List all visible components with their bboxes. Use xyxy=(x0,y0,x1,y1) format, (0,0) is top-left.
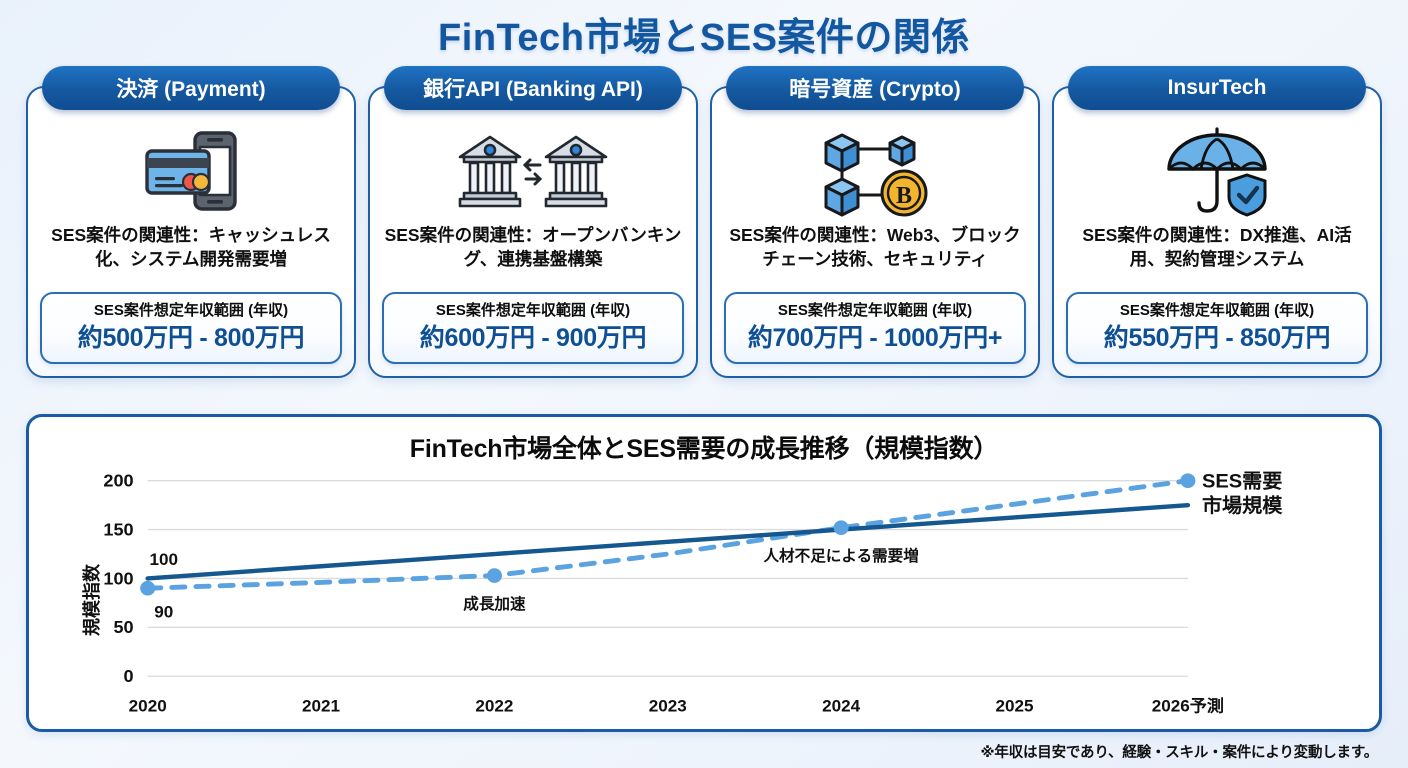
svg-text:B: B xyxy=(896,183,912,209)
svg-text:人材不足による需要増: 人材不足による需要増 xyxy=(763,546,918,565)
svg-text:2026予測: 2026予測 xyxy=(1152,696,1224,716)
svg-text:100: 100 xyxy=(103,569,133,589)
card-description-payment: SES案件の関連性：キャッシュレス化、システム開発需要増 xyxy=(40,218,342,292)
category-card-row: 決済 (Payment) SES案件の関連性：キャッシュレス化、システム開発需要… xyxy=(0,64,1408,378)
page-title: FinTech市場とSES案件の関係 xyxy=(0,0,1408,64)
salary-box-insurtech: SES案件想定年収範囲 (年収) 約550万円 - 850万円 xyxy=(1066,292,1368,364)
salary-box-banking-api: SES案件想定年収範囲 (年収) 約600万円 - 900万円 xyxy=(382,292,684,364)
salary-value: 約700万円 - 1000万円+ xyxy=(730,323,1020,354)
salary-value: 約550万円 - 850万円 xyxy=(1072,323,1362,354)
category-card-crypto[interactable]: 暗号資産 (Crypto) xyxy=(710,86,1040,378)
svg-text:市場規模: 市場規模 xyxy=(1202,494,1283,517)
salary-value: 約600万円 - 900万円 xyxy=(388,323,678,354)
footnote: ※年収は目安であり、経験・スキル・案件により変動します。 xyxy=(980,741,1378,762)
chart-plot-area: 規模指数 05010015020020202021202220232024202… xyxy=(29,469,1379,729)
card-description-insurtech: SES案件の関連性：DX推進、AI活用、契約管理システム xyxy=(1066,218,1368,292)
category-card-insurtech[interactable]: InsurTech SES案件の関連性：DX推進、AI活用、契約管理システム S… xyxy=(1052,86,1382,378)
svg-text:0: 0 xyxy=(124,666,134,686)
svg-text:2025: 2025 xyxy=(995,697,1033,716)
chart-title: FinTech市場全体とSES需要の成長推移（規模指数） xyxy=(29,417,1379,465)
svg-text:2021: 2021 xyxy=(302,697,340,716)
salary-box-payment: SES案件想定年収範囲 (年収) 約500万円 - 800万円 xyxy=(40,292,342,364)
growth-chart-panel: FinTech市場全体とSES需要の成長推移（規模指数） 規模指数 050100… xyxy=(26,414,1382,732)
svg-text:2020: 2020 xyxy=(129,697,167,716)
svg-text:SES需要: SES需要 xyxy=(1202,471,1283,493)
salary-label: SES案件想定年収範囲 (年収) xyxy=(46,300,336,323)
svg-text:100: 100 xyxy=(150,550,179,569)
svg-text:150: 150 xyxy=(103,520,133,540)
card-header-insurtech: InsurTech xyxy=(1068,66,1366,110)
salary-label: SES案件想定年収範囲 (年収) xyxy=(388,300,678,323)
svg-text:50: 50 xyxy=(113,617,133,637)
bank-exchange-icon xyxy=(458,124,608,218)
svg-text:2024: 2024 xyxy=(822,697,861,716)
card-header-payment: 決済 (Payment) xyxy=(42,66,340,110)
line-chart-svg: 0501001502002020202120222023202420252026… xyxy=(29,469,1379,729)
umbrella-shield-icon xyxy=(1161,124,1273,218)
card-header-banking-api: 銀行API (Banking API) xyxy=(384,66,682,110)
svg-text:成長加速: 成長加速 xyxy=(463,594,526,613)
svg-text:2023: 2023 xyxy=(649,697,687,716)
svg-text:90: 90 xyxy=(154,603,173,622)
svg-text:200: 200 xyxy=(103,471,133,491)
category-card-banking-api[interactable]: 銀行API (Banking API) xyxy=(368,86,698,378)
salary-box-crypto: SES案件想定年収範囲 (年収) 約700万円 - 1000万円+ xyxy=(724,292,1026,364)
card-header-crypto: 暗号資産 (Crypto) xyxy=(726,66,1024,110)
category-card-payment[interactable]: 決済 (Payment) SES案件の関連性：キャッシュレス化、システム開発需要… xyxy=(26,86,356,378)
salary-value: 約500万円 - 800万円 xyxy=(46,323,336,354)
salary-label: SES案件想定年収範囲 (年収) xyxy=(730,300,1020,323)
svg-text:2022: 2022 xyxy=(475,697,513,716)
salary-label: SES案件想定年収範囲 (年収) xyxy=(1072,300,1362,323)
blockchain-bitcoin-icon: B xyxy=(816,124,934,218)
card-description-banking-api: SES案件の関連性：オープンバンキング、連携基盤構築 xyxy=(382,218,684,292)
card-description-crypto: SES案件の関連性：Web3、ブロックチェーン技術、セキュリティ xyxy=(724,218,1026,292)
credit-card-smartphone-icon xyxy=(139,124,243,218)
